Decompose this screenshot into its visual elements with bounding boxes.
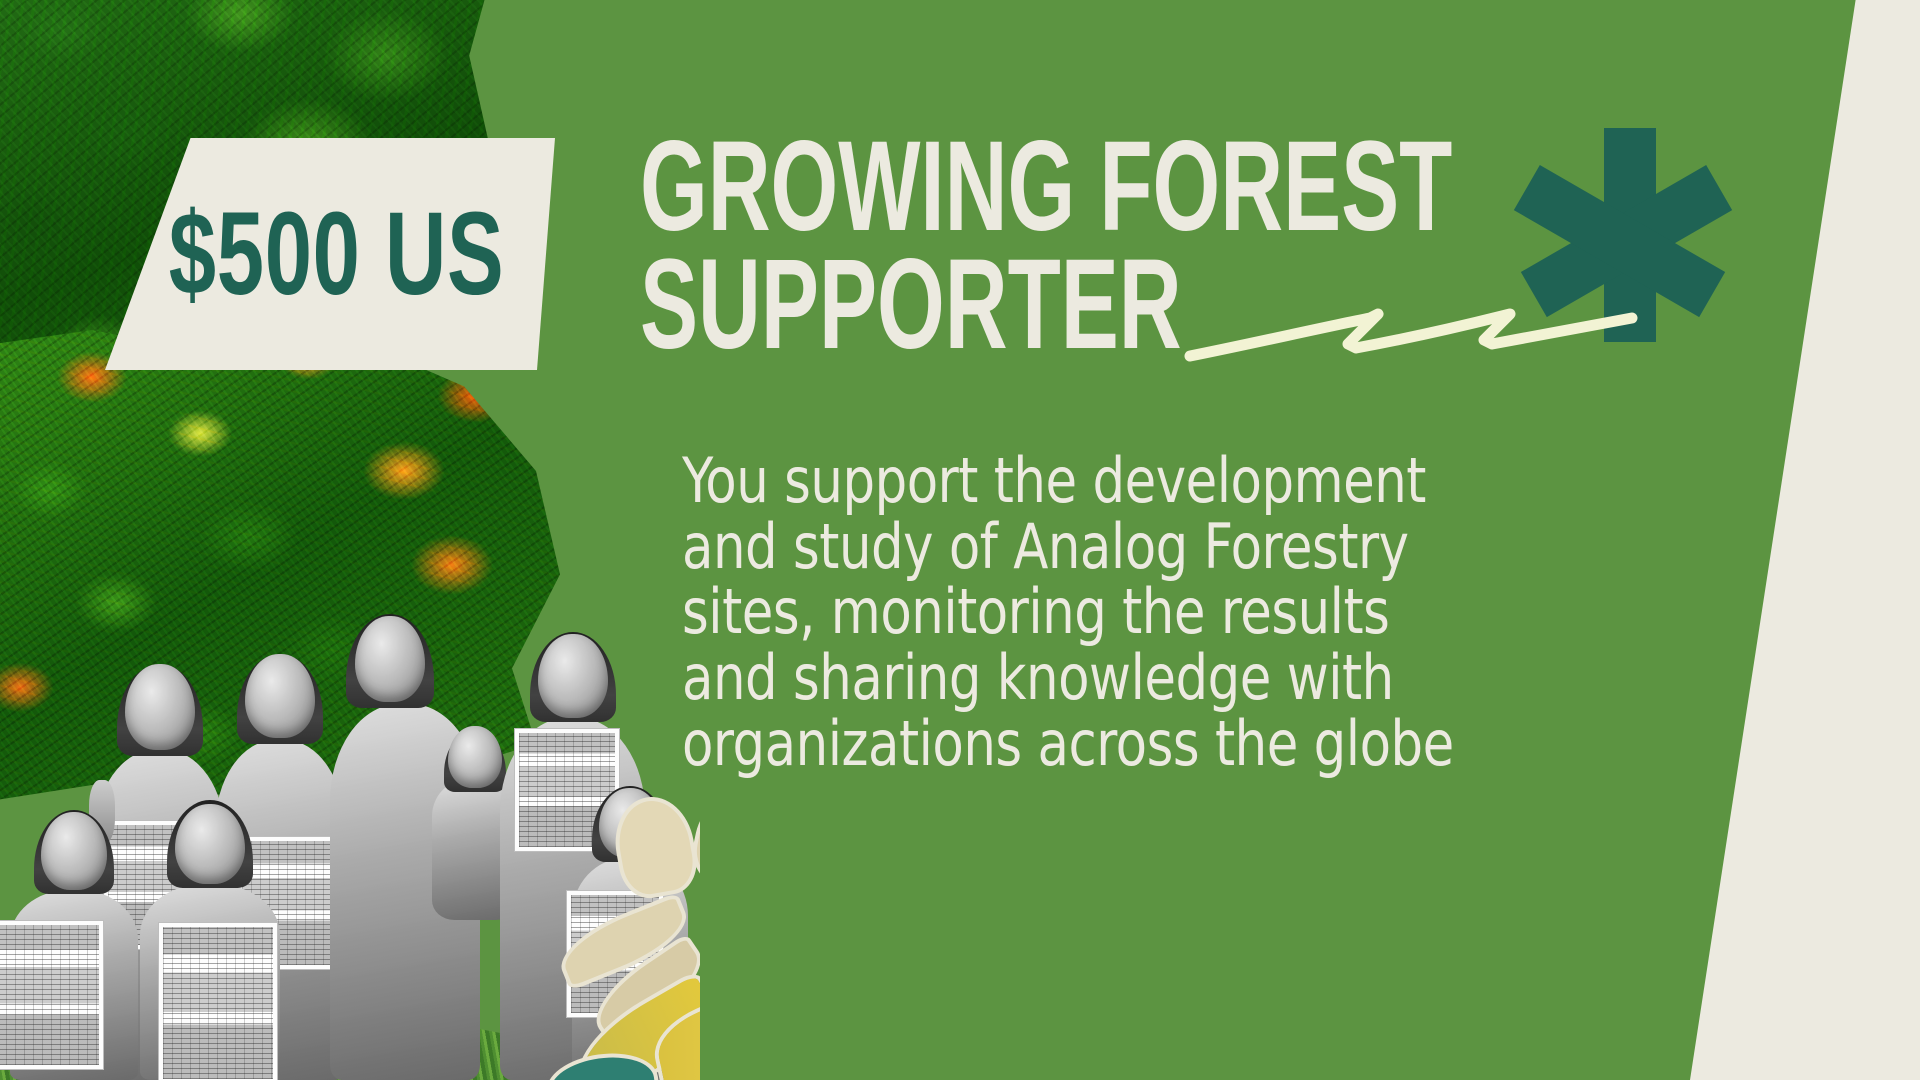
body-line-4: and sharing knowledge with [682, 645, 1611, 711]
promo-card: $500 US GROWING FOREST SUPPORTER You sup… [0, 0, 1920, 1080]
poster-held [158, 922, 278, 1080]
body-line-2: and study of Analog Forestry [682, 514, 1611, 580]
person-figure [140, 818, 280, 1080]
person-head [245, 654, 315, 738]
person-head [538, 634, 608, 718]
body-line-1: You support the development [682, 448, 1611, 514]
person-head [355, 616, 425, 702]
person-head [175, 804, 245, 884]
baby-head [448, 726, 502, 788]
person-head [125, 664, 195, 750]
poster-held [0, 920, 104, 1070]
tropical-leaves-paper-collage [560, 780, 700, 1080]
body-line-3: sites, monitoring the results [682, 579, 1611, 645]
person-figure [10, 830, 138, 1080]
body-line-5: organizations across the globe [682, 711, 1611, 777]
price-label: $500 US [156, 195, 505, 313]
leaf-tan [691, 792, 700, 892]
squiggle-underline-icon [1180, 280, 1640, 376]
leaf-tan [613, 795, 698, 898]
body-copy: You support the development and study of… [682, 448, 1692, 777]
title-line-1: GROWING FOREST [640, 128, 1452, 246]
person-head [41, 812, 107, 890]
